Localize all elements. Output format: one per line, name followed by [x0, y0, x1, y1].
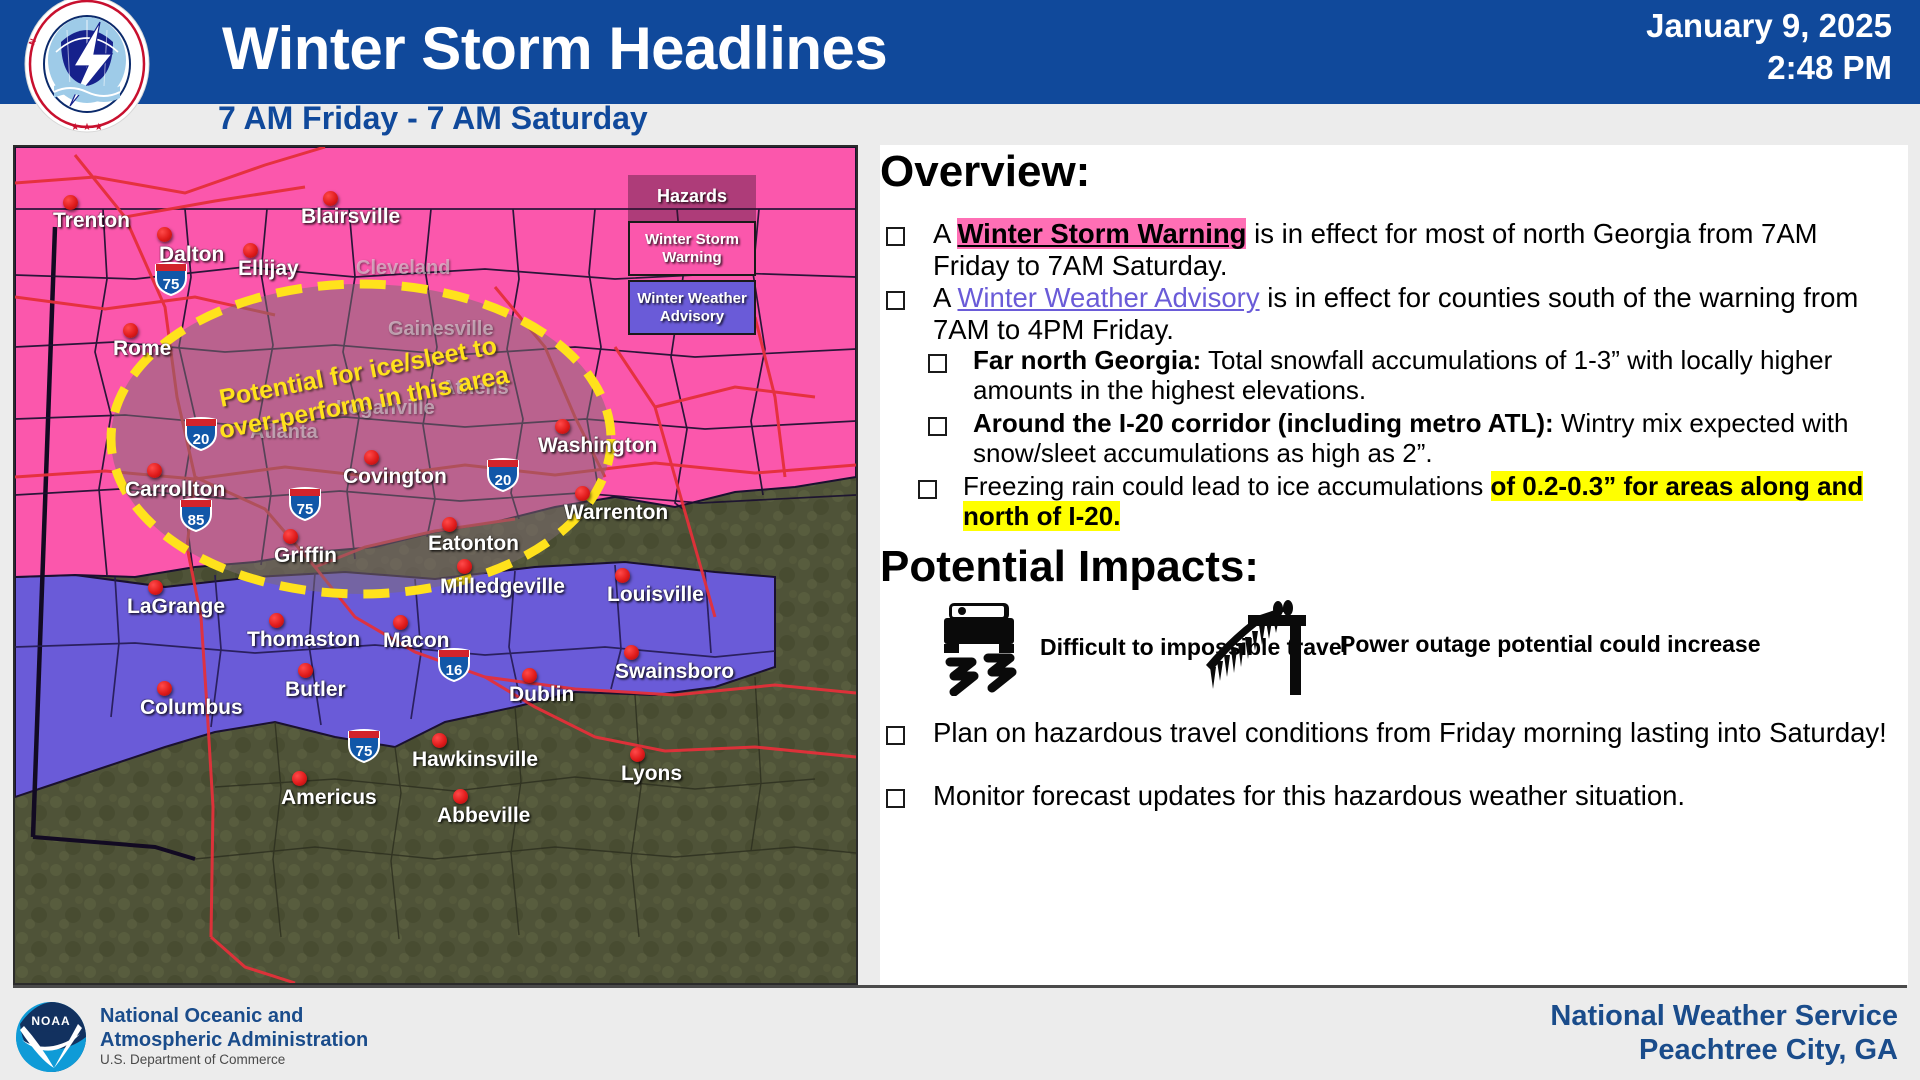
bullet-box-icon	[886, 291, 905, 310]
city-dot	[457, 559, 472, 574]
city-dot	[157, 681, 172, 696]
footer-divider	[13, 985, 1907, 988]
bullet-box-icon	[928, 417, 947, 436]
city-dot	[292, 771, 307, 786]
iced-power-line-icon	[1198, 593, 1326, 697]
issuance-time: 2:48 PM	[1292, 50, 1892, 87]
issuance-date: January 9, 2025	[1292, 8, 1892, 45]
city-dot	[283, 529, 298, 544]
overview-heading: Overview:	[880, 147, 1090, 197]
overview-bullet-1: A Winter Storm Warning is in effect for …	[886, 218, 1896, 282]
city-dot	[432, 733, 447, 748]
city-dot	[615, 568, 630, 583]
city-dot	[442, 517, 457, 532]
overview-bullet-2-text: A Winter Weather Advisory is in effect f…	[933, 282, 1896, 346]
svg-text:75: 75	[356, 743, 373, 760]
city-dot	[575, 486, 590, 501]
noaa-agency-line1: National Oceanic and	[100, 1004, 368, 1028]
impact-power: Power outage potential could increase	[1198, 593, 1760, 697]
seg-plain: A	[933, 218, 957, 249]
svg-text:75: 75	[163, 276, 180, 293]
city-dot	[269, 613, 284, 628]
city-dot	[148, 580, 163, 595]
city-dot	[364, 450, 379, 465]
winter-storm-warning-highlight: Winter Storm Warning	[957, 218, 1246, 249]
noaa-agency-line2: Atmospheric Administration	[100, 1028, 368, 1052]
closing-bullet-1: Plan on hazardous travel conditions from…	[886, 717, 1896, 749]
svg-text:NOAA: NOAA	[31, 1014, 70, 1028]
map-faint-label: Cleveland	[356, 257, 450, 280]
impact-power-label: Power outage potential could increase	[1340, 631, 1760, 659]
svg-text:20: 20	[495, 472, 512, 489]
nws-roundel-logo: ★ ★ ★ N	[12, 0, 162, 144]
noaa-agency-name: National Oceanic and Atmospheric Adminis…	[100, 1004, 368, 1052]
overview-subbullet-1-text: Far north Georgia: Total snowfall accumu…	[973, 345, 1896, 406]
valid-period: 7 AM Friday - 7 AM Saturday	[218, 100, 648, 137]
legend-title: Hazards	[628, 186, 756, 207]
interstate-shield-icon: 75	[287, 487, 323, 521]
winter-storm-headlines-graphic: ★ ★ ★ N Winter Storm Headlines January 9…	[0, 0, 1920, 1080]
bullet-box-icon	[918, 480, 937, 499]
seg-plain: Freezing rain could lead to ice accumula…	[963, 471, 1491, 501]
overview-subbullet-3-text: Freezing rain could lead to ice accumula…	[963, 471, 1896, 532]
interstate-shield-icon: 75	[346, 729, 382, 763]
interstate-shield-icon: 85	[178, 498, 214, 532]
city-dot	[63, 195, 78, 210]
city-dot	[630, 747, 645, 762]
overview-subbullet-i20-corridor: Around the I-20 corridor (including metr…	[928, 408, 1896, 469]
closing-bullet-2-text: Monitor forecast updates for this hazard…	[933, 780, 1685, 812]
city-dot	[522, 668, 537, 683]
content-panel: Overview: A Winter Storm Warning is in e…	[880, 145, 1908, 985]
city-dot	[147, 463, 162, 478]
svg-text:85: 85	[188, 512, 205, 529]
noaa-seagull-logo: NOAA	[14, 1000, 88, 1074]
bullet-box-icon	[886, 789, 905, 808]
svg-text:★ ★ ★: ★ ★ ★	[71, 122, 103, 133]
seg-bold: Far north Georgia:	[973, 345, 1201, 375]
interstate-shield-icon: 20	[485, 458, 521, 492]
nws-office: National Weather Service Peachtree City,…	[1298, 1000, 1898, 1067]
nws-office-line2: Peachtree City, GA	[1298, 1034, 1898, 1068]
city-dot	[298, 663, 313, 678]
legend-item-winter-storm-warning: Winter Storm Warning	[628, 221, 756, 276]
winter-weather-advisory-highlight: Winter Weather Advisory	[957, 282, 1259, 313]
skidding-car-icon	[940, 600, 1026, 696]
page-title: Winter Storm Headlines	[222, 14, 887, 83]
interstate-shield-icon: 16	[436, 648, 472, 682]
overview-subbullet-2-text: Around the I-20 corridor (including metr…	[973, 408, 1896, 469]
bullet-box-icon	[928, 354, 947, 373]
seg-plain: A	[933, 282, 957, 313]
overview-subbullet-far-north-georgia: Far north Georgia: Total snowfall accumu…	[928, 345, 1896, 406]
interstate-shield-icon: 75	[153, 262, 189, 296]
closing-bullet-2: Monitor forecast updates for this hazard…	[886, 780, 1896, 812]
noaa-department-line: U.S. Department of Commerce	[100, 1052, 285, 1067]
svg-text:16: 16	[446, 662, 463, 679]
city-dot	[453, 789, 468, 804]
bullet-box-icon	[886, 227, 905, 246]
city-dot	[243, 243, 258, 258]
city-dot	[157, 227, 172, 242]
svg-text:75: 75	[297, 501, 314, 518]
city-dot	[393, 615, 408, 630]
city-dot	[555, 419, 570, 434]
overview-bullet-2: A Winter Weather Advisory is in effect f…	[886, 282, 1896, 346]
seg-bold: Around the I-20 corridor (including metr…	[973, 408, 1554, 438]
overview-subbullet-freezing-rain: Freezing rain could lead to ice accumula…	[918, 471, 1896, 532]
nws-office-line1: National Weather Service	[1298, 1000, 1898, 1034]
closing-bullet-1-text: Plan on hazardous travel conditions from…	[933, 717, 1887, 749]
city-dot	[123, 323, 138, 338]
hazard-map[interactable]: Hazards Winter Storm Warning Winter Weat…	[13, 145, 858, 985]
legend-item-winter-weather-advisory: Winter Weather Advisory	[628, 280, 756, 335]
impacts-heading: Potential Impacts:	[880, 542, 1259, 592]
overview-bullet-1-text: A Winter Storm Warning is in effect for …	[933, 218, 1896, 282]
city-dot	[624, 645, 639, 660]
bullet-box-icon	[886, 726, 905, 745]
city-dot	[323, 191, 338, 206]
